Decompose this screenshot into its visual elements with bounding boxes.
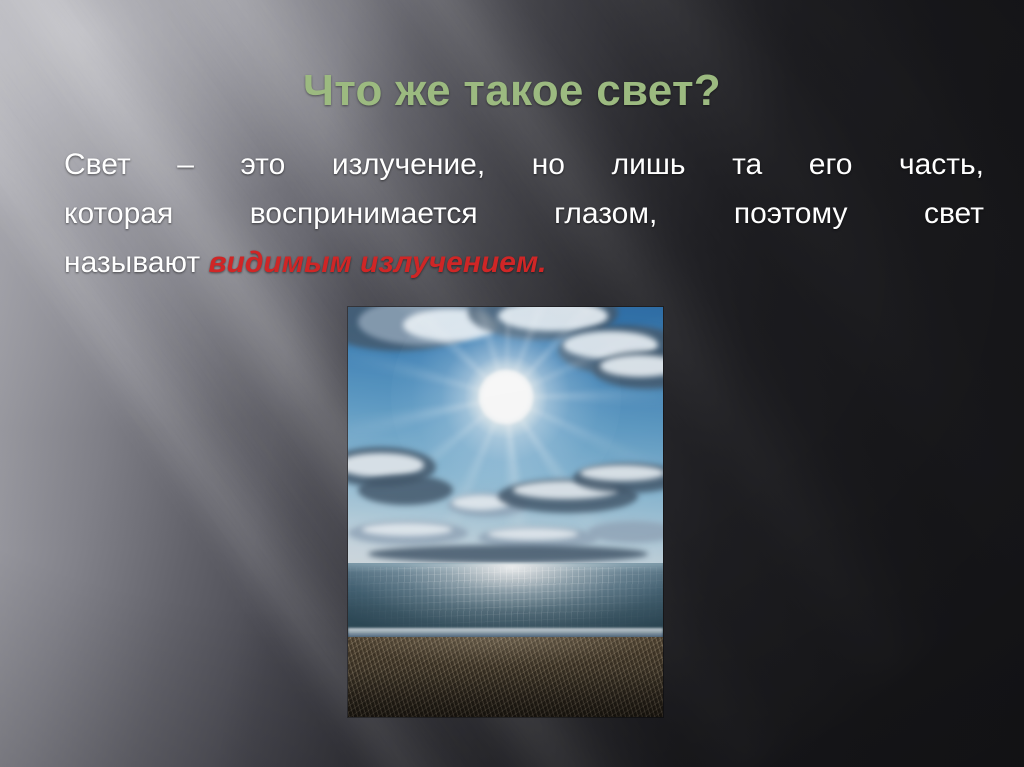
sun-disc [479,370,533,424]
body-paragraph: Свет – это излучение, но лишь та его час… [64,140,984,287]
sun-over-sea-photo [348,307,663,717]
cloud-shape [580,465,663,481]
body-line-2: которая воспринимается глазом, поэтому с… [64,189,984,238]
page-title: Что же такое свет? [0,66,1024,116]
beach-shading [348,637,663,717]
sea-sparkle-texture [348,567,663,629]
cloud-shape [488,528,578,540]
slide-canvas: Что же такое свет? Свет – это излучение,… [0,0,1024,767]
body-line-1: Свет – это излучение, но лишь та его час… [64,140,984,189]
body-line-3-accent: видимым излучением. [208,246,546,279]
cloud-shape [358,475,453,505]
body-line-3: называют видимым излучением. [64,238,984,287]
cloud-shape [368,545,648,563]
cloud-shape [362,523,452,536]
body-line-3-plain: называют [64,246,208,279]
